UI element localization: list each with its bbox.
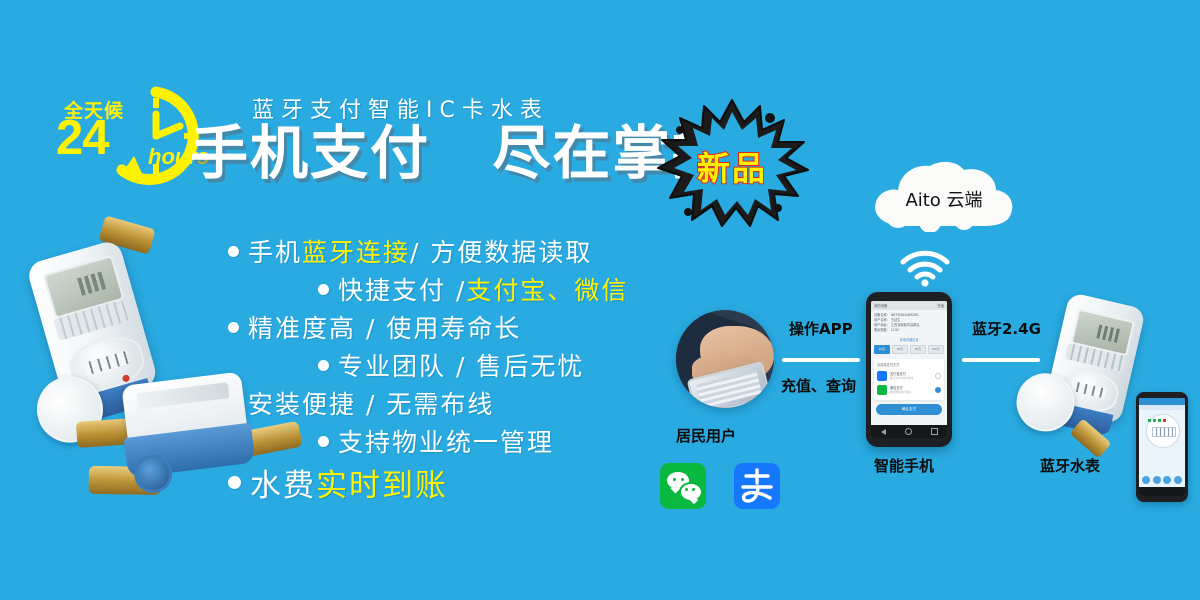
bullet-2-seg-2: 支付宝、微信 [466, 271, 628, 307]
amount-tab-1[interactable]: 10元 [874, 345, 890, 354]
wechat-radio[interactable] [935, 387, 941, 393]
wechat-pay-icon[interactable] [660, 463, 706, 509]
small-app-titlebar [1139, 398, 1185, 405]
wechat-bubble-small [679, 482, 703, 502]
led-green-1 [1148, 419, 1151, 422]
banner-canvas: 全天候 24 hours 蓝牙支付智能IC卡水表 手机支付 尽在掌握 新品 手机… [0, 0, 1200, 600]
payment-card-title: 请选择支付方式 [877, 362, 941, 367]
bullet-6-seg-1: 支持物业统一管理 [338, 423, 554, 459]
clock-badge-number: 24 [56, 114, 109, 163]
amount-tab-4[interactable]: 100元 [928, 345, 944, 354]
phone-screen: 我的设备 充值 设备名称： NBTS0814WM2W1 用户名称： 王站生 用户… [871, 301, 947, 438]
app-payment-card: 请选择支付方式 支付宝支付 推荐支付宝用户使用 微信支付 推荐微信用户使用 [874, 359, 944, 400]
meter-led-row [1148, 419, 1166, 422]
led-red [1163, 419, 1166, 422]
bullet-3-seg-1: 精准度高 / 使用寿命长 [248, 309, 521, 345]
payment-option-alipay[interactable]: 支付宝支付 推荐支付宝用户使用 [877, 369, 941, 383]
new-product-badge-label: 新品 [652, 142, 812, 190]
alipay-pay-icon[interactable] [734, 463, 780, 509]
bullet-item-1: 手机 蓝牙连接 / 方便数据读取 [228, 232, 698, 270]
bullet-dot-icon [228, 322, 239, 333]
bullet-1-seg-3: / 方便数据读取 [410, 233, 592, 269]
product-image-valve-water-meter [79, 360, 303, 515]
headline-part-1: 手机支付 [190, 119, 430, 187]
app-detail-link[interactable]: 查询详细信息 [871, 336, 947, 343]
info-line-4: 剩余额度： 12.50 [874, 328, 944, 333]
app-title-right: 充值 [937, 303, 944, 308]
connector-phone-meter [962, 358, 1040, 362]
bullet-dot-icon [318, 360, 329, 371]
amount-tab-2[interactable]: 20元 [892, 345, 908, 354]
alipay-option-sub: 推荐支付宝用户使用 [890, 376, 932, 380]
payment-option-wechat[interactable]: 微信支付 推荐微信用户使用 [877, 383, 941, 397]
bullet-item-6: 支持物业统一管理 [318, 422, 698, 460]
bullet-item-2: 快捷支付 / 支付宝、微信 [318, 270, 698, 308]
small-app-action-icons [1142, 476, 1182, 484]
led-green-3 [1158, 419, 1161, 422]
new-product-badge: 新品 [652, 96, 812, 228]
wechat-eye-4 [692, 488, 695, 491]
app-titlebar: 我的设备 充值 [871, 301, 947, 310]
action-icon-1[interactable] [1142, 476, 1150, 484]
bullet-item-4: 专业团队 / 售后无忧 [318, 346, 698, 384]
bullet-1-seg-1: 手机 [248, 233, 302, 269]
alipay-icon [877, 371, 887, 381]
nav-back-icon[interactable] [881, 429, 886, 435]
label-resident-user: 居民用户 [676, 425, 736, 446]
app-amount-tabs: 10元 20元 50元 100元 [871, 343, 947, 356]
bullet-dot-icon [228, 246, 239, 257]
bullet-7-seg-2: 实时到账 [316, 460, 448, 505]
small-app-subbar [1139, 405, 1185, 410]
label-smartphone: 智能手机 [874, 455, 934, 476]
action-icon-4[interactable] [1174, 476, 1182, 484]
bullet-dot-icon [318, 284, 329, 295]
label-recharge-query: 充值、查询 [781, 375, 856, 396]
led-green-2 [1153, 419, 1156, 422]
bullet-dot-icon [318, 436, 329, 447]
cloud-server-node: Aito 云端 [864, 158, 1024, 232]
wifi-icon [897, 248, 953, 288]
connector-user-phone [782, 358, 860, 362]
wechat-eye-3 [685, 488, 688, 491]
small-phone-nav [1139, 487, 1185, 496]
label-bluetooth-water-meter: 蓝牙水表 [1040, 455, 1100, 476]
app-device-info: 设备名称： NBTS0814WM2W1 用户名称： 王站生 用户地址： 江西省南… [871, 310, 947, 336]
smartphone-device: 我的设备 充值 设备名称： NBTS0814WM2W1 用户名称： 王站生 用户… [866, 292, 952, 447]
wechat-option-sub: 推荐微信用户使用 [890, 390, 932, 394]
meter-reading-app-phone [1136, 392, 1188, 502]
alipay-radio[interactable] [935, 373, 941, 379]
bullet-2-seg-1: 快捷支付 / [338, 271, 466, 307]
label-bluetooth-24g: 蓝牙2.4G [972, 318, 1041, 339]
wechat-eye-2 [681, 478, 684, 481]
bullet-item-3: 精准度高 / 使用寿命长 [228, 308, 698, 346]
small-phone-screen [1139, 398, 1185, 496]
wechat-icon [877, 385, 887, 395]
bullet-1-seg-2: 蓝牙连接 [302, 233, 410, 269]
action-icon-2[interactable] [1153, 476, 1161, 484]
amount-tab-3[interactable]: 50元 [910, 345, 926, 354]
app-title-left: 我的设备 [874, 303, 888, 308]
phone-nav-bar [871, 425, 947, 438]
nav-recent-icon[interactable] [931, 428, 938, 435]
valve-meter-label [136, 382, 229, 409]
bullet-item-5: 安装便捷 / 无需布线 [228, 384, 698, 422]
bullet-4-seg-1: 专业团队 / 售后无忧 [338, 347, 584, 383]
cloud-label: Aito 云端 [864, 186, 1024, 212]
label-operate-app: 操作APP [789, 318, 853, 339]
wechat-eye-1 [673, 478, 676, 481]
nav-home-icon[interactable] [905, 428, 912, 435]
resident-user-photo [676, 310, 774, 408]
action-icon-3[interactable] [1163, 476, 1171, 484]
confirm-payment-button[interactable]: 确认支付 [876, 404, 942, 415]
alipay-glyph-icon [734, 463, 780, 509]
